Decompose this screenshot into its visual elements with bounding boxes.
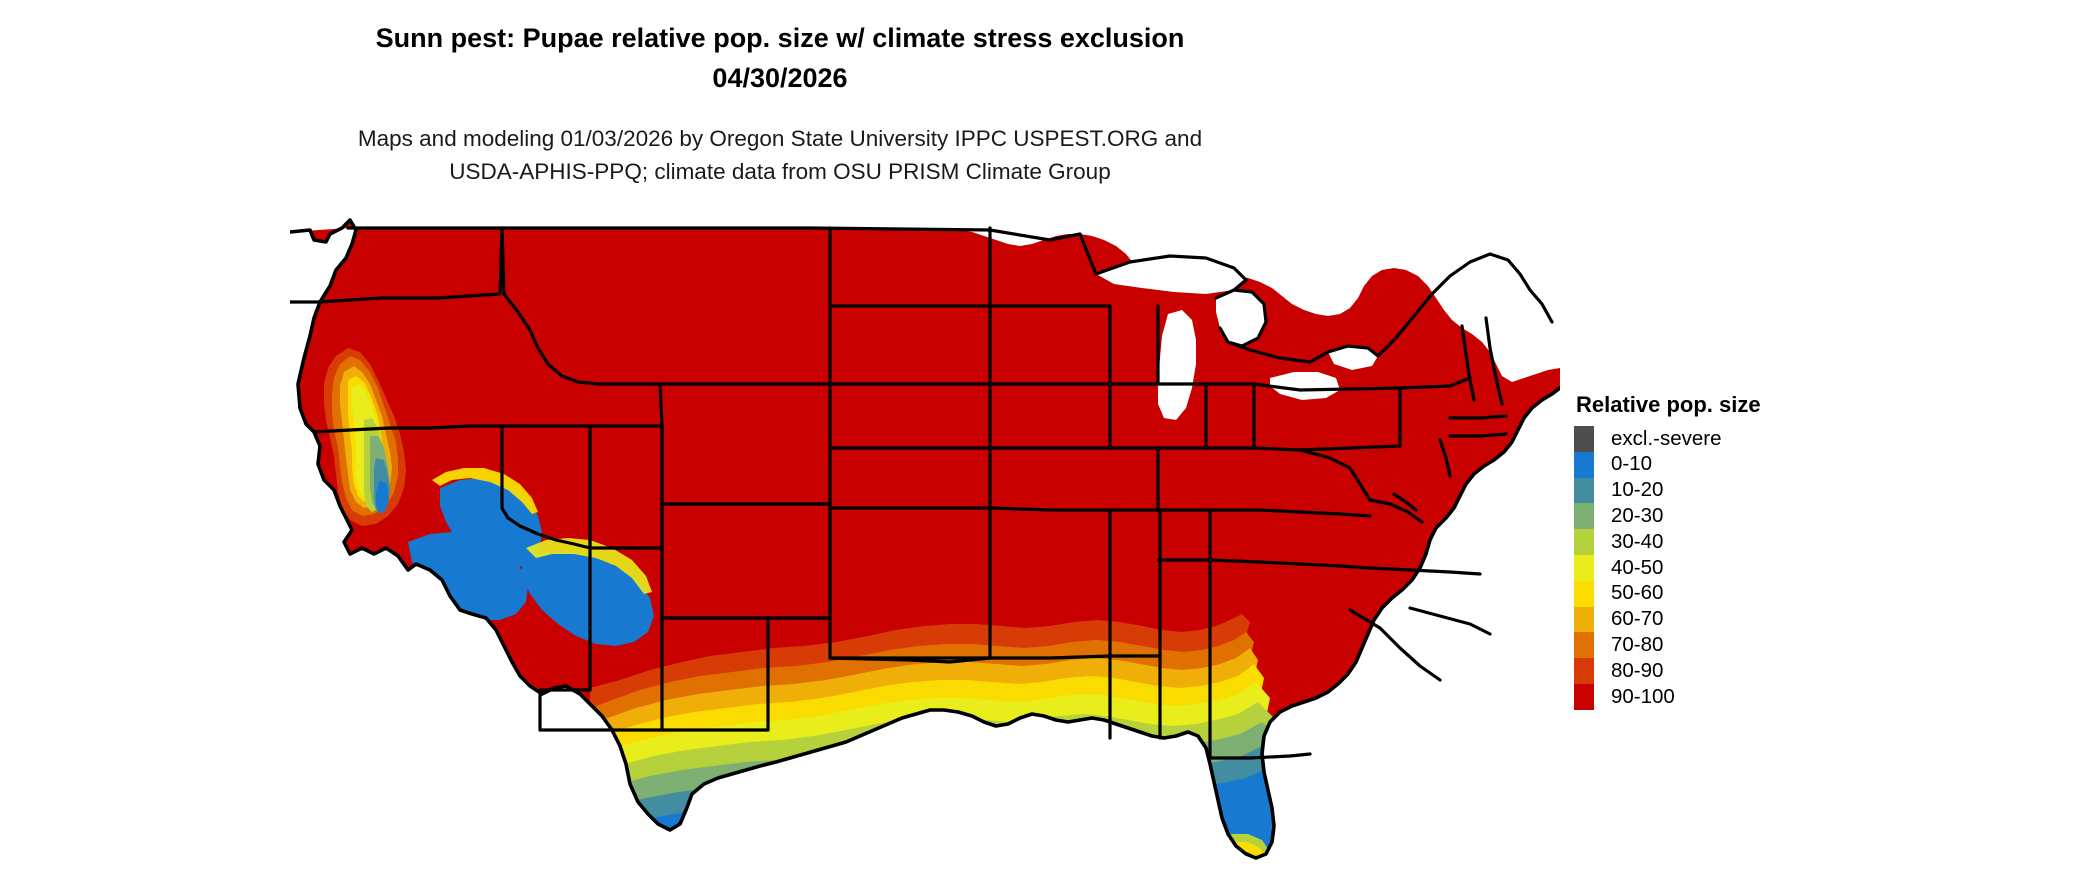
legend-color-swatch	[1574, 503, 1594, 529]
page-subtitle: Maps and modeling 01/03/2026 by Oregon S…	[0, 122, 1560, 188]
us-map-svg	[290, 218, 1560, 878]
legend-item-list: excl.-severe0-1010-2020-3030-4040-5050-6…	[1574, 426, 1904, 710]
rgv-90-100	[628, 844, 659, 866]
legend-item: 30-40	[1574, 529, 1904, 555]
legend-color-swatch	[1574, 452, 1594, 478]
legend-color-swatch	[1574, 581, 1594, 607]
legend-color-swatch	[1574, 632, 1594, 658]
legend-item: excl.-severe	[1574, 426, 1904, 452]
legend-item: 10-20	[1574, 478, 1904, 504]
subtitle-line-1: Maps and modeling 01/03/2026 by Oregon S…	[0, 122, 1560, 155]
legend-color-swatch	[1574, 658, 1594, 684]
legend-color-swatch	[1574, 607, 1594, 633]
border-nc-sc	[1410, 608, 1490, 634]
legend-item: 70-80	[1574, 632, 1904, 658]
legend-item: 90-100	[1574, 684, 1904, 710]
legend-color-swatch	[1574, 426, 1594, 452]
legend-item: 50-60	[1574, 581, 1904, 607]
sfl-90-100	[1224, 862, 1262, 878]
page-title: Sunn pest: Pupae relative pop. size w/ c…	[0, 18, 1560, 98]
rgv-70-80	[624, 836, 666, 866]
legend-item-label: 90-100	[1611, 687, 1675, 708]
legend-item: 60-70	[1574, 607, 1904, 633]
legend-item-label: 50-60	[1611, 583, 1663, 604]
legend-item-label: 70-80	[1611, 635, 1663, 656]
legend-item-label: 60-70	[1611, 609, 1663, 630]
legend-color-swatch	[1574, 684, 1594, 710]
legend-item-label: 20-30	[1611, 506, 1663, 527]
subtitle-line-2: USDA-APHIS-PPQ; climate data from OSU PR…	[0, 155, 1560, 188]
legend-item-label: 0-10	[1611, 454, 1652, 475]
map-legend: Relative pop. size excl.-severe0-1010-20…	[1574, 392, 1904, 710]
legend-item-label: 30-40	[1611, 532, 1663, 553]
map-page: Sunn pest: Pupae relative pop. size w/ c…	[0, 0, 2100, 892]
legend-item-label: 40-50	[1611, 558, 1663, 579]
title-line-2: 04/30/2026	[0, 58, 1560, 98]
legend-item: 0-10	[1574, 452, 1904, 478]
legend-item: 80-90	[1574, 658, 1904, 684]
legend-item-label: excl.-severe	[1611, 429, 1722, 450]
legend-title: Relative pop. size	[1576, 392, 1904, 418]
legend-item-label: 10-20	[1611, 480, 1663, 501]
legend-color-swatch	[1574, 529, 1594, 555]
legend-item: 40-50	[1574, 555, 1904, 581]
rgv-50-60	[620, 826, 670, 866]
legend-item: 20-30	[1574, 503, 1904, 529]
legend-color-swatch	[1574, 555, 1594, 581]
title-line-1: Sunn pest: Pupae relative pop. size w/ c…	[0, 18, 1560, 58]
legend-item-label: 80-90	[1611, 661, 1663, 682]
choropleth-map	[290, 218, 1560, 878]
legend-color-swatch	[1574, 478, 1594, 504]
